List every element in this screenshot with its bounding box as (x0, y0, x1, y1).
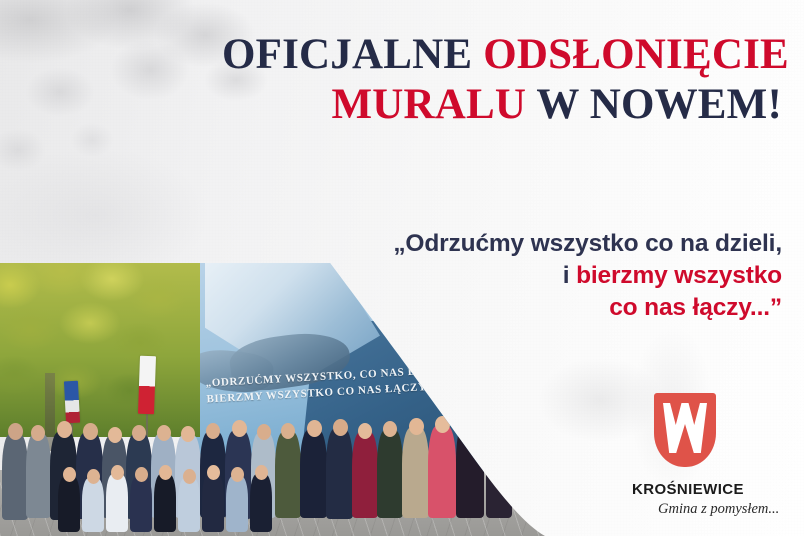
crowd-child (226, 476, 248, 532)
crowd-person (326, 429, 353, 519)
crowd-person (428, 426, 456, 518)
crowd-head (31, 425, 45, 441)
crowd-head (83, 423, 98, 440)
crowd-head (181, 426, 195, 442)
crowd-head (358, 423, 372, 439)
headline-part-muralu: MURALU (331, 81, 536, 128)
headline-line-2: MURALU W NOWEM! (222, 80, 782, 130)
w-crown-emblem-icon (663, 403, 707, 453)
quote-line-3: co nas łączy...” (312, 292, 782, 324)
crowd-head (232, 420, 247, 437)
quote-line-1: „Odrzućmy wszystko co na dzieli, (312, 228, 782, 260)
crowd-head (257, 424, 271, 440)
municipality-logo: KROŚNIEWICE Gmina z pomysłem... (630, 393, 780, 518)
crowd-child (154, 474, 176, 532)
headline-line-1: OFICJALNE ODSŁONIĘCIE (222, 30, 782, 80)
headline-part-w-nowem: W NOWEM! (536, 81, 782, 128)
crowd-head (307, 420, 322, 437)
crowd-person (402, 428, 429, 518)
crowd-person (26, 434, 51, 518)
crowd-child (106, 474, 128, 532)
headline-part-odsloniecie: ODSŁONIĘCIE (483, 31, 789, 78)
crowd-head (207, 465, 220, 480)
logo-municipality-name: KROŚNIEWICE (632, 481, 780, 498)
crowd-child (130, 476, 152, 532)
crowd-child (178, 478, 200, 532)
crowd-person (352, 432, 378, 518)
poster-canvas: OFICJALNE ODSŁONIĘCIE MURALU W NOWEM! „O… (0, 0, 804, 536)
crowd-child (58, 476, 80, 532)
crowd-head (8, 423, 23, 440)
crowd-head (63, 467, 76, 482)
crowd-head (255, 465, 268, 480)
quote-line-2-navy: i (563, 262, 576, 289)
quote-line-2: i bierzmy wszystko (312, 260, 782, 292)
page-title: OFICJALNE ODSŁONIĘCIE MURALU W NOWEM! (222, 30, 782, 131)
crowd-head (281, 423, 295, 439)
headline-part-oficjalne: OFICJALNE (222, 31, 483, 78)
quote-line-2-red: bierzmy wszystko (576, 262, 782, 289)
crowd-head (333, 419, 348, 436)
crowd-head (206, 423, 220, 439)
crowd-child (250, 474, 272, 532)
crowd-person (275, 432, 301, 518)
crowd-person (2, 434, 28, 520)
crowd-head (135, 467, 148, 482)
quote-block: „Odrzućmy wszystko co na dzieli, i bierz… (312, 228, 782, 324)
crowd-head (157, 425, 171, 441)
coat-of-arms-shield-icon (654, 393, 716, 467)
crowd-head (111, 465, 124, 480)
crowd-head (183, 469, 196, 484)
crowd-head (87, 469, 100, 484)
crowd-head (132, 425, 146, 441)
crowd-child (202, 474, 224, 532)
crowd-head (108, 427, 122, 443)
crowd-head (159, 465, 172, 480)
crowd-head (409, 418, 424, 435)
crowd-head (57, 421, 72, 438)
logo-tagline: Gmina z pomysłem... (658, 501, 780, 518)
crowd-head (383, 421, 397, 437)
crowd-person (300, 430, 327, 518)
crowd-person (377, 430, 403, 518)
crowd-child (82, 478, 104, 532)
crowd-head (231, 467, 244, 482)
